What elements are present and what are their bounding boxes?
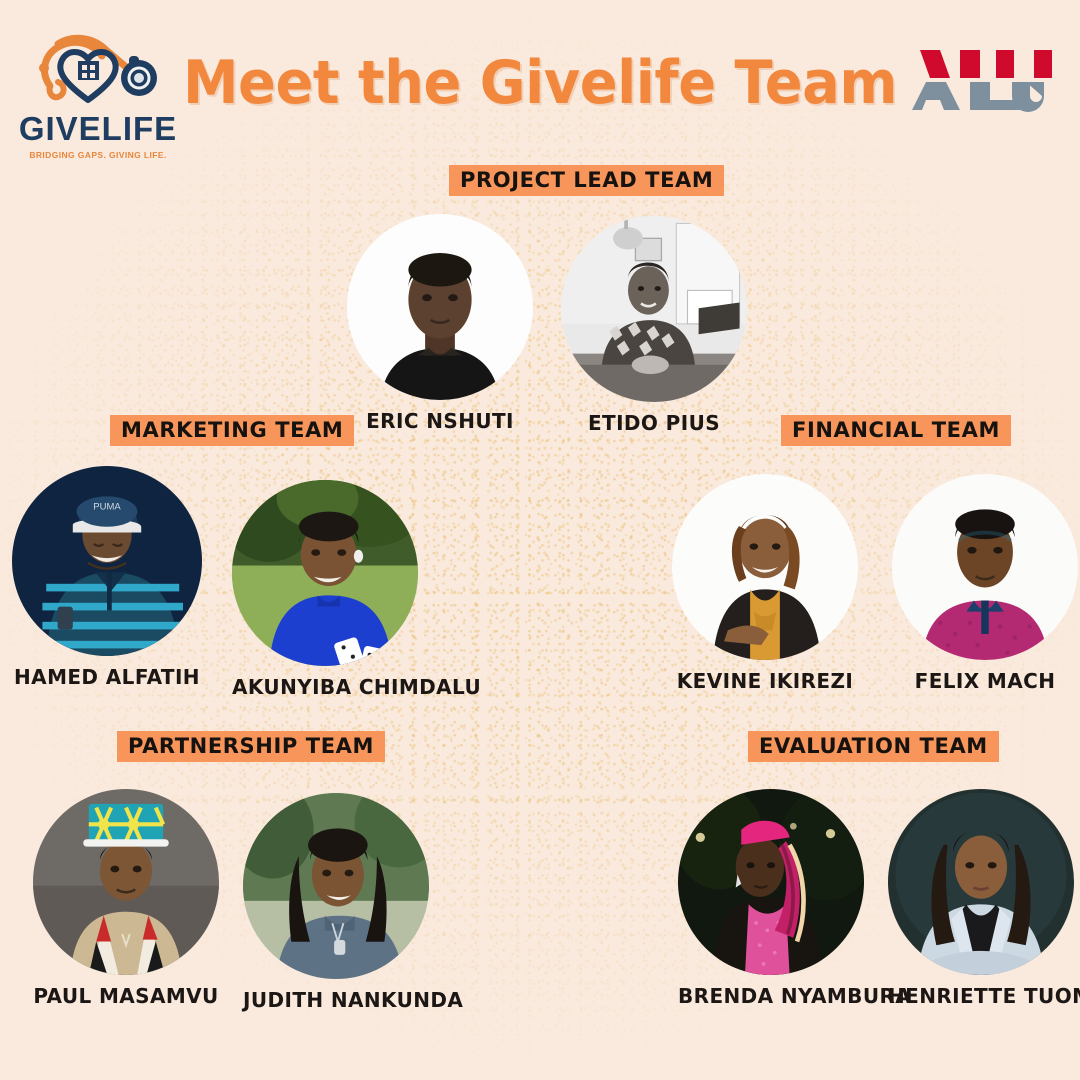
team-label-evaluation: EVALUATION TEAM: [748, 731, 999, 762]
portrait-hamed-alfatih: PUMA: [12, 466, 202, 656]
portrait-henriette-tuombe: [888, 789, 1074, 975]
svg-text:PUMA: PUMA: [93, 502, 121, 513]
portrait-judith-nankunda: [243, 793, 429, 979]
member-name: ERIC NSHUTI: [347, 409, 533, 433]
member-card-felix-mach[interactable]: FELIX MACH: [892, 474, 1078, 693]
givelife-tagline: BRIDGING GAPS. GIVING LIFE.: [18, 150, 178, 160]
portrait-kevine-ikirezi: [672, 474, 858, 660]
member-name: HENRIETTE TUOMBE: [888, 984, 1074, 1008]
member-name: HAMED ALFATIH: [12, 665, 202, 689]
member-name: BRENDA NYAMBURA: [678, 984, 864, 1008]
team-label-marketing: MARKETING TEAM: [110, 415, 354, 446]
portrait-paul-masamvu: [33, 789, 219, 975]
team-label-financial: FINANCIAL TEAM: [781, 415, 1011, 446]
portrait-akunyiba-chimdalu: [232, 480, 418, 666]
portrait-etido-pius: [561, 216, 747, 402]
member-card-akunyiba-chimdalu[interactable]: AKUNYIBA CHIMDALU: [232, 480, 418, 699]
member-name: KEVINE IKIREZI: [672, 669, 858, 693]
member-card-paul-masamvu[interactable]: PAUL MASAMVU: [33, 789, 219, 1008]
alu-logo: [912, 48, 1062, 116]
member-card-kevine-ikirezi[interactable]: KEVINE IKIREZI: [672, 474, 858, 693]
member-name: PAUL MASAMVU: [33, 984, 219, 1008]
team-label-project-lead: PROJECT LEAD TEAM: [449, 165, 724, 196]
portrait-felix-mach: [892, 474, 1078, 660]
team-label-partnership: PARTNERSHIP TEAM: [117, 731, 385, 762]
member-name: JUDITH NANKUNDA: [243, 988, 429, 1012]
member-card-brenda-nyambura[interactable]: BRENDA NYAMBURA: [678, 789, 864, 1008]
member-name: FELIX MACH: [892, 669, 1078, 693]
member-card-henriette-tuombe[interactable]: HENRIETTE TUOMBE: [888, 789, 1074, 1008]
portrait-brenda-nyambura: [678, 789, 864, 975]
member-card-eric-nshuti[interactable]: ERIC NSHUTI: [347, 214, 533, 433]
member-card-etido-pius[interactable]: ETIDO PIUS: [561, 216, 747, 435]
portrait-eric-nshuti: [347, 214, 533, 400]
member-card-hamed-alfatih[interactable]: PUMA HAMED ALFATIH: [12, 466, 202, 689]
team-poster: GIVELIFE BRIDGING GAPS. GIVING LIFE. Mee…: [0, 0, 1080, 1080]
page-title: Meet the Givelife Team: [38, 48, 1042, 118]
member-name: AKUNYIBA CHIMDALU: [232, 675, 418, 699]
member-card-judith-nankunda[interactable]: JUDITH NANKUNDA: [243, 793, 429, 1012]
member-name: ETIDO PIUS: [561, 411, 747, 435]
